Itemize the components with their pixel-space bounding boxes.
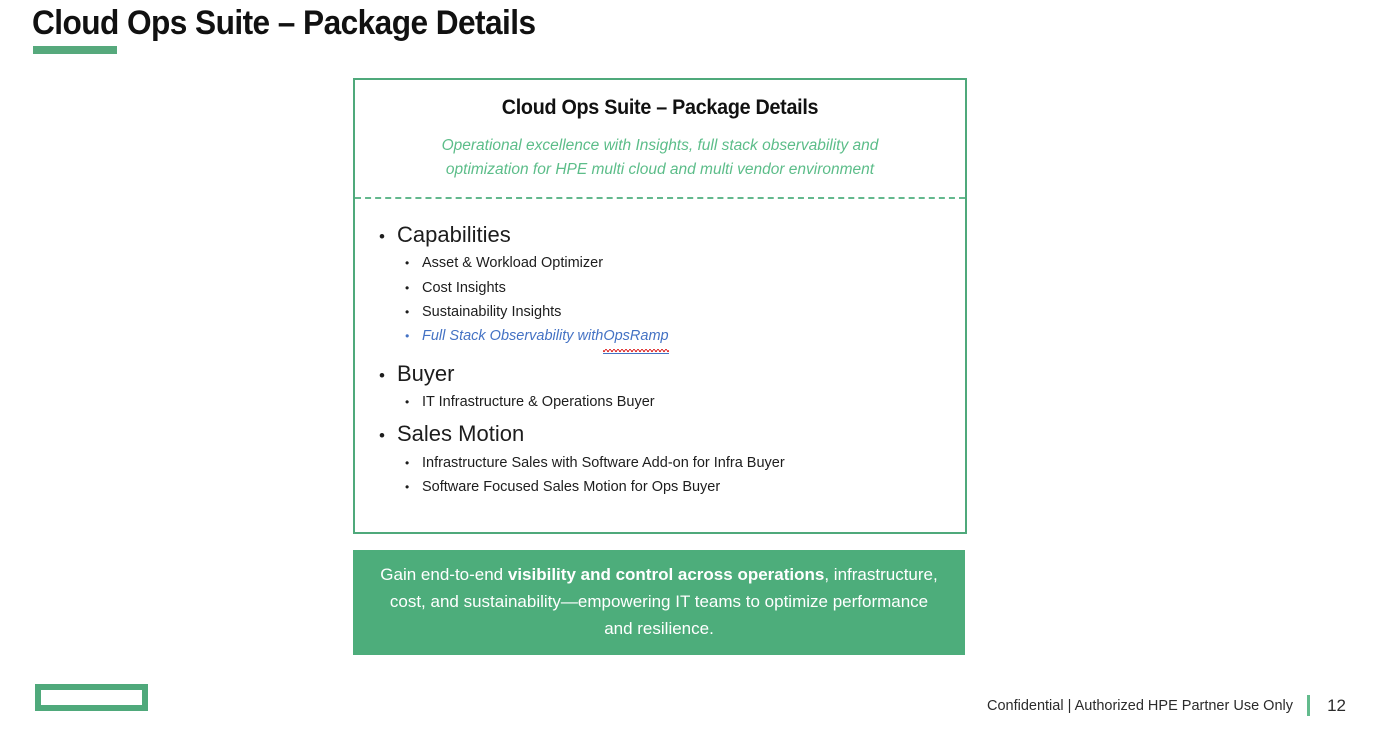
- summary-callout-text: Gain end-to-end visibility and control a…: [375, 562, 943, 643]
- bullet-dot-icon: •: [405, 282, 422, 294]
- summary-callout: Gain end-to-end visibility and control a…: [353, 550, 965, 655]
- bullet-item-label: Software Focused Sales Motion for Ops Bu…: [422, 475, 720, 499]
- callout-lead-text: Gain end-to-end: [380, 565, 508, 584]
- footer: Confidential | Authorized HPE Partner Us…: [987, 695, 1346, 716]
- bullet-list-item: •Asset & Workload Optimizer: [379, 251, 965, 275]
- bullet-group-label: Sales Motion: [397, 418, 524, 449]
- bullet-dot-icon: •: [405, 481, 422, 493]
- bullet-group-heading: •Sales Motion: [379, 418, 965, 449]
- bullet-group-label: Capabilities: [397, 219, 511, 250]
- bullet-list-item: •Software Focused Sales Motion for Ops B…: [379, 475, 965, 499]
- bullet-item-label: Cost Insights: [422, 276, 506, 300]
- bullet-dot-icon: •: [405, 396, 422, 408]
- title-accent-bar: [33, 46, 117, 54]
- opsramp-link[interactable]: OpsRamp: [603, 324, 668, 353]
- bullet-list-item: •Infrastructure Sales with Software Add-…: [379, 451, 965, 475]
- bullet-item-label: Infrastructure Sales with Software Add-o…: [422, 451, 785, 475]
- dashed-divider: [355, 197, 965, 199]
- bullet-dot-icon: •: [379, 228, 397, 245]
- bullet-group: •Buyer•IT Infrastructure & Operations Bu…: [379, 358, 965, 415]
- hpe-logo: [35, 684, 148, 711]
- card-subtitle: Operational excellence with Insights, fu…: [400, 134, 920, 182]
- bullet-sub-list: •IT Infrastructure & Operations Buyer: [379, 390, 965, 414]
- bullet-dot-icon: •: [405, 457, 422, 469]
- bullet-item-label: Full Stack Observability with: [422, 324, 603, 348]
- page-title: Cloud Ops Suite – Package Details: [32, 4, 535, 43]
- footer-separator: [1307, 695, 1310, 716]
- bullet-sub-list: •Asset & Workload Optimizer•Cost Insight…: [379, 251, 965, 353]
- bullet-list-item: •IT Infrastructure & Operations Buyer: [379, 390, 965, 414]
- bullet-group-heading: •Capabilities: [379, 219, 965, 250]
- card-title: Cloud Ops Suite – Package Details: [373, 96, 946, 120]
- bullet-list-item-link[interactable]: •Full Stack Observability with OpsRamp: [379, 324, 965, 353]
- bullet-group: •Sales Motion•Infrastructure Sales with …: [379, 418, 965, 499]
- bullet-group: •Capabilities•Asset & Workload Optimizer…: [379, 219, 965, 354]
- callout-emphasis-text: visibility and control across operations: [508, 565, 824, 584]
- bullet-dot-icon: •: [379, 367, 397, 384]
- bullet-group-heading: •Buyer: [379, 358, 965, 389]
- page-number: 12: [1324, 696, 1346, 716]
- package-details-card: Cloud Ops Suite – Package Details Operat…: [353, 78, 967, 534]
- footer-confidentiality-note: Confidential | Authorized HPE Partner Us…: [987, 698, 1293, 714]
- bullet-group-label: Buyer: [397, 358, 454, 389]
- bullet-list-item: •Cost Insights: [379, 276, 965, 300]
- bullet-item-label: Asset & Workload Optimizer: [422, 251, 603, 275]
- bullet-dot-icon: •: [405, 257, 422, 269]
- bullet-dot-icon: •: [405, 306, 422, 318]
- bullet-list-item: •Sustainability Insights: [379, 300, 965, 324]
- bullet-dot-icon: •: [379, 427, 397, 444]
- bullet-sub-list: •Infrastructure Sales with Software Add-…: [379, 451, 965, 500]
- bullet-dot-icon: •: [405, 330, 422, 342]
- capabilities-bullet-list: •Capabilities•Asset & Workload Optimizer…: [355, 219, 965, 499]
- bullet-item-label: IT Infrastructure & Operations Buyer: [422, 390, 655, 414]
- bullet-item-label: Sustainability Insights: [422, 300, 561, 324]
